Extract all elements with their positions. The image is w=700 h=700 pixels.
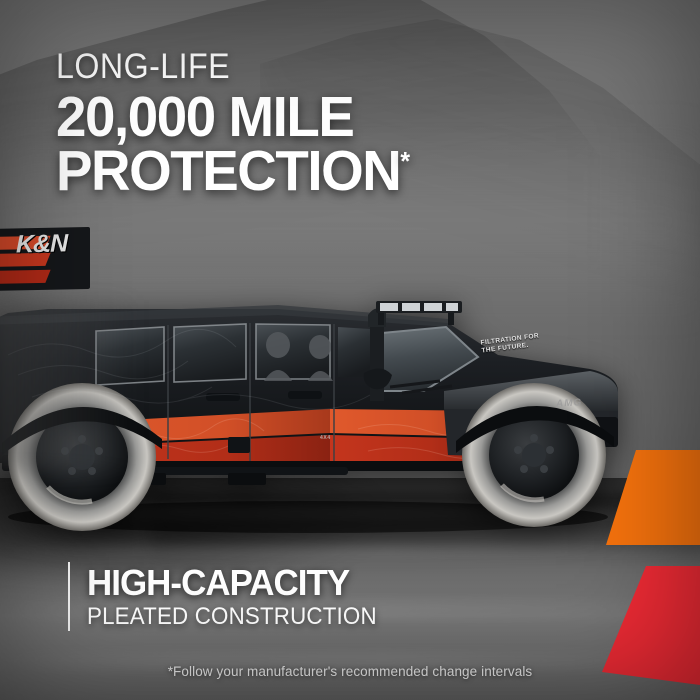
kn-logo-decal: K&N (0, 227, 90, 291)
subhead-block: HIGH-CAPACITY PLEATED CONSTRUCTION (68, 562, 399, 631)
vertical-rule-divider (68, 562, 70, 631)
kn-logo-text: K&N (16, 231, 67, 257)
subhead-text-group: HIGH-CAPACITY PLEATED CONSTRUCTION (87, 562, 399, 631)
kn-stripe-icon (0, 270, 51, 285)
footnote-marker: * (400, 146, 410, 176)
headline-eyebrow: LONG-LIFE (56, 48, 395, 86)
headline-line-2-wrapper: PROTECTION* (56, 144, 410, 198)
advertisement-banner: K&N FILTRATION FOR THE FUTURE. AMG 4X4 L… (0, 0, 700, 700)
headline-block: LONG-LIFE 20,000 MILE PROTECTION* (56, 48, 425, 198)
amg-badge: AMG (556, 397, 583, 409)
footnote-disclaimer: *Follow your manufacturer's recommended … (0, 664, 700, 679)
subhead-secondary: PLEATED CONSTRUCTION (87, 603, 377, 631)
offroad-suv-image (0, 205, 638, 535)
door-badge: 4X4 (320, 435, 331, 441)
motion-blur-streak (0, 546, 700, 558)
headline-line-1: 20,000 MILE (56, 90, 410, 144)
headline-line-2: PROTECTION (56, 139, 400, 203)
subhead-main: HIGH-CAPACITY (87, 563, 389, 602)
